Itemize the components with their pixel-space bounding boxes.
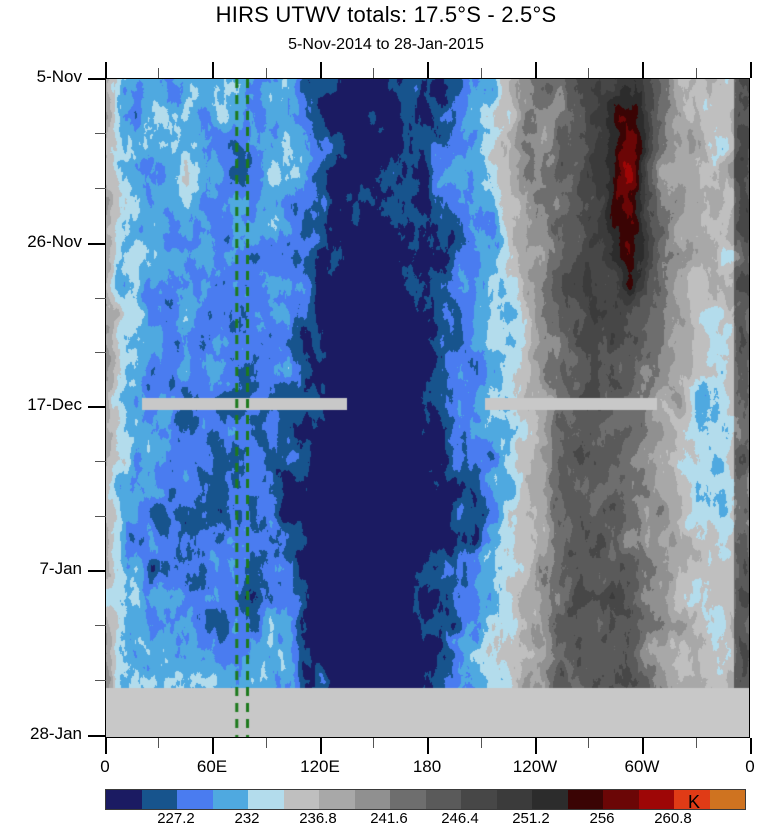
colorbar [105, 789, 746, 810]
colorbar-swatch [213, 790, 249, 809]
colorbar-swatch [461, 790, 497, 809]
y-tick-minor [95, 188, 106, 189]
y-tick-major [88, 406, 106, 408]
page-subtitle: 5-Nov-2014 to 28-Jan-2015 [0, 36, 772, 54]
x-tick-major-top [320, 62, 322, 78]
x-tick-major-top [212, 62, 214, 78]
y-tick-minor [95, 461, 106, 462]
colorbar-swatch [355, 790, 391, 809]
x-tick-minor [588, 738, 589, 748]
colorbar-swatch [497, 790, 533, 809]
y-axis-label: 7-Jan [0, 559, 82, 579]
colorbar-swatch [710, 790, 746, 809]
y-tick-major [88, 735, 106, 737]
colorbar-swatch [284, 790, 320, 809]
x-axis-label: 60E [172, 757, 252, 777]
colorbar-tick-labels: 227.2232236.8241.6246.4251.2256260.8 [105, 810, 638, 830]
x-axis-label: 180 [387, 757, 467, 777]
colorbar-swatch [426, 790, 462, 809]
page-title: HIRS UTWV totals: 17.5°S - 2.5°S [0, 2, 772, 28]
x-tick-minor [266, 738, 267, 748]
x-tick-minor [158, 738, 159, 748]
colorbar-swatch [248, 790, 284, 809]
colorbar-tick-label: 246.4 [425, 810, 495, 827]
colorbar-swatch [106, 790, 142, 809]
x-tick-major [750, 738, 752, 754]
colorbar-tick-label: 241.6 [354, 810, 424, 827]
y-axis-label: 17-Dec [0, 395, 82, 415]
colorbar-tick-label: 232 [212, 810, 282, 827]
x-tick-major [642, 738, 644, 754]
x-tick-major [105, 738, 107, 754]
x-axis-label: 120E [280, 757, 360, 777]
colorbar-swatch [319, 790, 355, 809]
colorbar-swatch [568, 790, 604, 809]
y-tick-minor [95, 625, 106, 626]
colorbar-swatch [177, 790, 213, 809]
colorbar-swatch [639, 790, 675, 809]
x-tick-major-top [535, 62, 537, 78]
x-tick-major-top [750, 62, 752, 78]
x-tick-major [320, 738, 322, 754]
x-tick-minor-top [696, 68, 697, 78]
colorbar-swatch [532, 790, 568, 809]
y-tick-minor [95, 352, 106, 353]
x-tick-minor [373, 738, 374, 748]
colorbar-swatch [390, 790, 426, 809]
y-tick-minor [95, 680, 106, 681]
colorbar-swatch [603, 790, 639, 809]
y-tick-minor [95, 298, 106, 299]
x-tick-minor-top [481, 68, 482, 78]
colorbar-tick-label: 227.2 [141, 810, 211, 827]
y-axis-label: 26-Nov [0, 232, 82, 252]
x-tick-major-top [105, 62, 107, 78]
y-axis-label: 28-Jan [0, 724, 82, 744]
y-tick-major [88, 570, 106, 572]
x-axis-label: 0 [710, 757, 772, 777]
x-tick-major-top [642, 62, 644, 78]
x-tick-minor-top [588, 68, 589, 78]
y-tick-minor [95, 133, 106, 134]
hovmoller-canvas [106, 79, 750, 738]
y-tick-minor [95, 516, 106, 517]
y-tick-major [88, 243, 106, 245]
x-axis-label: 60W [602, 757, 682, 777]
hovmoller-plot [105, 78, 750, 738]
x-axis-label: 0 [65, 757, 145, 777]
colorbar-tick-label: 256 [567, 810, 637, 827]
colorbar-units-label: K [688, 792, 700, 813]
colorbar-swatch [142, 790, 178, 809]
y-tick-major [88, 78, 106, 80]
y-axis-label: 5-Nov [0, 67, 82, 87]
x-tick-minor-top [158, 68, 159, 78]
x-tick-minor-top [266, 68, 267, 78]
x-tick-major-top [427, 62, 429, 78]
colorbar-tick-label: 236.8 [283, 810, 353, 827]
x-tick-major [535, 738, 537, 754]
x-tick-minor [696, 738, 697, 748]
x-tick-minor [481, 738, 482, 748]
x-tick-minor-top [373, 68, 374, 78]
x-axis-label: 120W [495, 757, 575, 777]
x-tick-major [212, 738, 214, 754]
x-tick-major [427, 738, 429, 754]
colorbar-tick-label: 251.2 [496, 810, 566, 827]
